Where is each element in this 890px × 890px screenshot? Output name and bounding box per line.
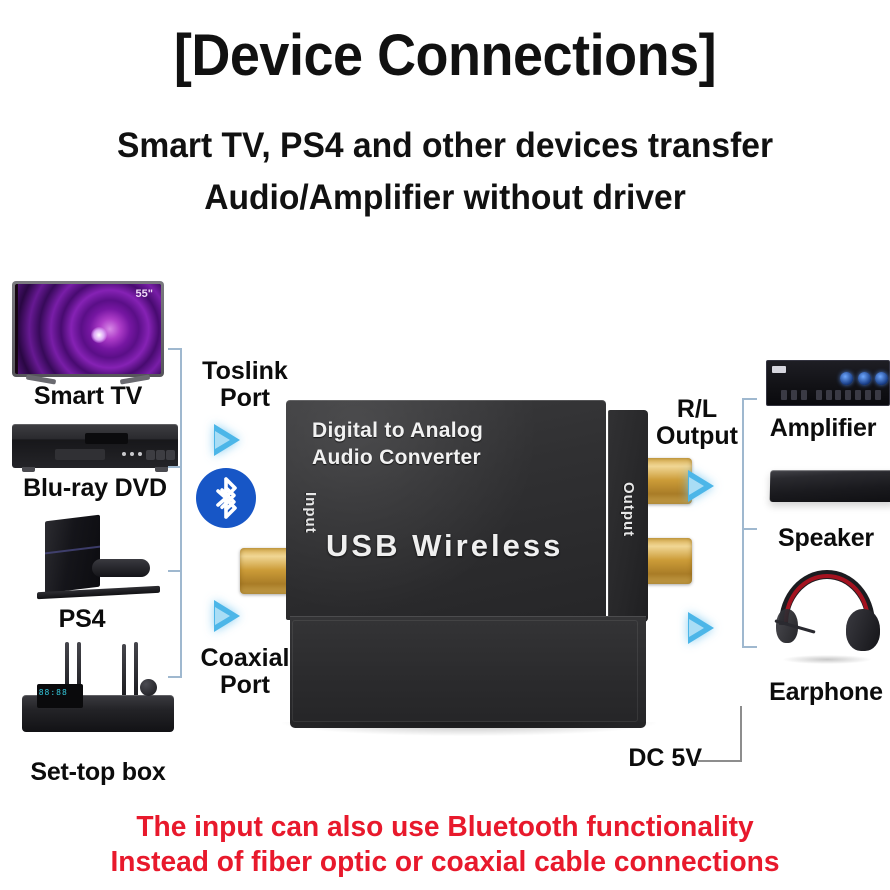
bracket-tick-ps4 — [168, 570, 181, 572]
dvd-foot-right — [155, 467, 168, 472]
dvd-display — [85, 433, 128, 444]
source-label-ps4: PS4 — [22, 605, 142, 634]
bluetooth-icon — [196, 468, 256, 528]
output-group-bracket — [742, 398, 744, 648]
power-leader-horizontal — [698, 760, 742, 762]
bracket-spine — [742, 398, 744, 648]
dvd-button — [146, 450, 155, 460]
bracket-tick-bluray — [168, 466, 181, 468]
amplifier-button — [826, 390, 832, 400]
rl-output-label-line2: Output — [640, 423, 754, 450]
power-leader-vertical — [740, 706, 742, 760]
output-label-speaker: Speaker — [762, 524, 890, 553]
footer-caption-line-2: Instead of fiber optic or coaxial cable … — [13, 847, 876, 879]
set-top-box-knob — [140, 679, 157, 696]
amplifier-button — [801, 390, 807, 400]
set-top-box-display-text: 88:88 — [39, 688, 68, 697]
soundbar-icon — [770, 470, 890, 502]
bracket-tick-amplifier — [743, 398, 757, 400]
bracket-tick-speaker — [743, 528, 757, 530]
subtitle-line-2: Audio/Amplifier without driver — [18, 178, 872, 217]
tv-size-badge: 55" — [136, 288, 153, 300]
dvd-foot-left — [22, 467, 35, 472]
bracket-tick-earphone — [743, 646, 757, 648]
power-label-dc5v: DC 5V — [520, 745, 702, 772]
dvd-indicator — [122, 452, 126, 456]
soundbar-body — [770, 470, 890, 502]
source-label-set-top-box: Set-top box — [6, 758, 190, 787]
converter-input-tag: Input — [302, 492, 319, 534]
infographic-canvas: [Device Connections] Smart TV, PS4 and o… — [0, 0, 890, 890]
game-console-icon — [22, 516, 168, 598]
amplifier-button — [865, 390, 871, 400]
amplifier-knob — [875, 372, 888, 385]
converter-brand-line1: Digital to Analog — [312, 418, 483, 445]
headset-shadow — [783, 655, 871, 664]
amplifier-knob — [858, 372, 871, 385]
signal-arrow-toslink — [214, 424, 240, 456]
input-group-bracket — [180, 348, 182, 678]
amplifier-button — [781, 390, 787, 400]
set-top-box-icon: 88:88 — [22, 640, 174, 732]
signal-arrow-amplifier — [688, 470, 714, 502]
converter-shadow — [282, 722, 656, 736]
page-title: [Device Connections] — [31, 26, 859, 87]
ps4-console-body — [45, 514, 100, 593]
signal-arrow-earphone — [688, 612, 714, 644]
amplifier-button — [816, 390, 822, 400]
antenna — [122, 644, 126, 698]
source-label-smart-tv: Smart TV — [12, 382, 164, 411]
amplifier-button — [855, 390, 861, 400]
footer-caption-line-1: The input can also use Bluetooth functio… — [13, 812, 876, 844]
tv-frame: 55" — [12, 281, 164, 377]
amplifier-icon — [766, 360, 890, 406]
headset-earcup-right — [846, 609, 880, 651]
converter-brand-line2: Audio Converter — [312, 445, 483, 472]
dvd-button — [156, 450, 165, 460]
dvd-indicator — [130, 452, 134, 456]
rl-output-label-line1: R/L — [640, 396, 754, 423]
converter-output-tag: Output — [620, 482, 637, 537]
output-label-earphone: Earphone — [762, 678, 890, 707]
dvd-tray — [55, 449, 105, 460]
antenna — [134, 642, 138, 698]
signal-arrow-coaxial — [214, 600, 240, 632]
bracket-tick-set-top-box — [168, 676, 181, 678]
amplifier-brand-plate — [772, 366, 786, 373]
source-label-bluray-dvd: Blu-ray DVD — [4, 474, 186, 503]
amplifier-button — [835, 390, 841, 400]
rl-output-label: R/L Output — [640, 396, 754, 450]
subtitle-line-1: Smart TV, PS4 and other devices transfer — [18, 126, 872, 165]
toslink-port-label-line1: Toslink — [186, 358, 304, 385]
tv-screen: 55" — [15, 284, 161, 374]
bracket-spine — [180, 348, 182, 678]
tv-screen-highlight — [91, 327, 107, 343]
dvd-button — [166, 450, 175, 460]
dvd-body — [12, 424, 178, 468]
tv-icon: 55" — [12, 281, 164, 377]
output-label-amplifier: Amplifier — [756, 414, 890, 443]
dac-converter-device: Digital to Analog Audio Converter USB Wi… — [268, 400, 668, 740]
dvd-player-icon — [12, 424, 178, 468]
converter-front-face — [290, 616, 646, 728]
converter-brand-text: Digital to Analog Audio Converter — [312, 418, 483, 472]
bracket-tick-smart-tv — [168, 348, 181, 350]
converter-model-text: USB Wireless — [326, 528, 563, 564]
amplifier-button — [845, 390, 851, 400]
amplifier-button — [791, 390, 797, 400]
headset-icon — [772, 570, 882, 658]
ps4-controller — [92, 559, 150, 577]
amplifier-button — [875, 390, 881, 400]
